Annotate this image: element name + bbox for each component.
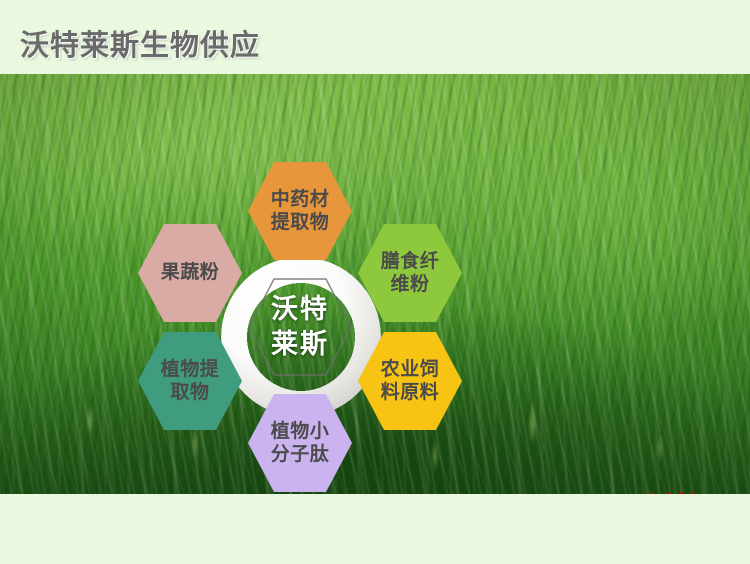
product-hexagon-cluster: 中药材 提取物 膳食纤 维粉 农业饲 料原料 植物小 分子肽 植物提 bbox=[138, 162, 470, 494]
hex-plant-peptide-label: 植物小 分子肽 bbox=[265, 420, 336, 466]
hex-tcm-extract-label: 中药材 提取物 bbox=[265, 188, 336, 234]
hex-plant-extract-label: 植物提 取物 bbox=[155, 358, 226, 404]
hex-fruit-veg-powder-label: 果蔬粉 bbox=[155, 261, 226, 284]
hero-banner-image: 中药材 提取物 膳食纤 维粉 农业饲 料原料 植物小 分子肽 植物提 bbox=[0, 74, 750, 494]
hex-tcm-extract[interactable]: 中药材 提取物 bbox=[248, 162, 352, 260]
hex-dietary-fiber-label: 膳食纤 维粉 bbox=[375, 250, 446, 296]
footer-background-plate bbox=[0, 494, 750, 564]
page-title: 沃特莱斯生物供应 bbox=[20, 22, 260, 64]
page-header: 沃特莱斯生物供应 bbox=[0, 0, 750, 74]
hex-center-brand-label: 沃特 莱斯 bbox=[265, 292, 335, 362]
hex-feed-material-label: 农业饲 料原料 bbox=[375, 358, 446, 404]
